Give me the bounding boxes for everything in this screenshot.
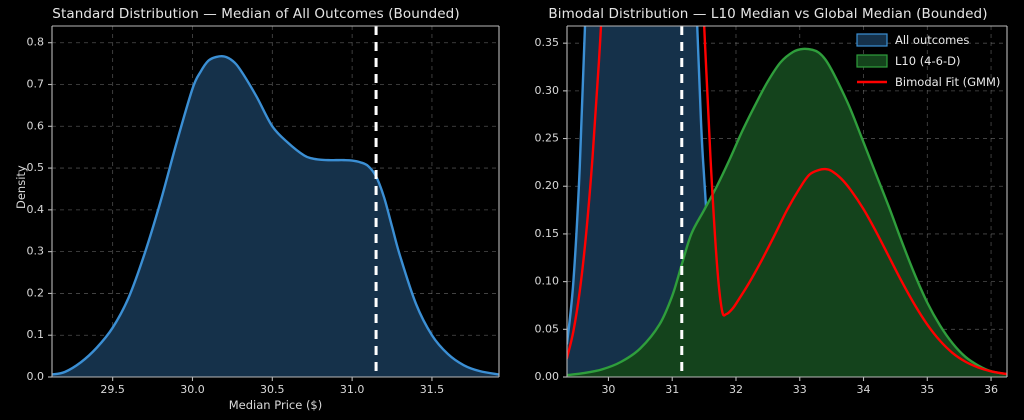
y-tick-label: 0.25 bbox=[535, 132, 560, 145]
legend-swatch-0 bbox=[857, 34, 887, 46]
legend-swatch-1 bbox=[857, 55, 887, 67]
plot-area-left: 0.00.10.20.30.40.50.60.70.829.530.030.53… bbox=[52, 26, 499, 377]
x-tick-label: 34 bbox=[857, 383, 871, 396]
x-tick-label: 31.5 bbox=[420, 383, 445, 396]
y-tick-label: 0.3 bbox=[27, 245, 45, 258]
y-tick-label: 0.4 bbox=[27, 203, 45, 216]
x-tick-label: 30.5 bbox=[260, 383, 285, 396]
chart-panel-left: Standard Distribution — Median of All Ou… bbox=[0, 0, 512, 420]
y-tick-label: 0.1 bbox=[27, 328, 45, 341]
plot-svg-left: 0.00.10.20.30.40.50.60.70.829.530.030.53… bbox=[52, 26, 499, 377]
x-tick-label: 33 bbox=[793, 383, 807, 396]
chart-panel-right: Bimodal Distribution — L10 Median vs Glo… bbox=[512, 0, 1024, 420]
chart-title-right: Bimodal Distribution — L10 Median vs Glo… bbox=[512, 6, 1024, 22]
y-tick-label: 0.10 bbox=[535, 275, 560, 288]
y-tick-label: 0.05 bbox=[535, 322, 560, 335]
y-tick-label: 0.35 bbox=[535, 36, 560, 49]
y-tick-label: 0.30 bbox=[535, 84, 560, 97]
legend-label-0: All outcomes bbox=[895, 33, 969, 47]
x-tick-label: 29.5 bbox=[100, 383, 125, 396]
x-tick-label: 31.0 bbox=[340, 383, 365, 396]
legend-label-2: Bimodal Fit (GMM) bbox=[895, 75, 1000, 89]
plot-svg-right: 0.000.050.100.150.200.250.300.3530313233… bbox=[567, 26, 1007, 377]
y-tick-label: 0.0 bbox=[27, 370, 45, 383]
y-tick-label: 0.00 bbox=[535, 370, 560, 383]
legend-label-1: L10 (4-6-D) bbox=[895, 54, 960, 68]
x-tick-label: 30.0 bbox=[180, 383, 205, 396]
x-tick-label: 36 bbox=[984, 383, 998, 396]
figure-canvas: Standard Distribution — Median of All Ou… bbox=[0, 0, 1024, 420]
y-tick-label: 0.5 bbox=[27, 161, 45, 174]
x-axis-label-left: Median Price ($) bbox=[52, 398, 499, 412]
y-tick-label: 0.7 bbox=[27, 78, 45, 91]
plot-area-right: 0.000.050.100.150.200.250.300.3530313233… bbox=[567, 26, 1007, 377]
x-tick-label: 31 bbox=[665, 383, 679, 396]
x-tick-label: 30 bbox=[601, 383, 615, 396]
y-tick-label: 0.15 bbox=[535, 227, 560, 240]
x-tick-label: 35 bbox=[920, 383, 934, 396]
y-tick-label: 0.20 bbox=[535, 179, 560, 192]
chart-title-left: Standard Distribution — Median of All Ou… bbox=[0, 6, 512, 22]
x-tick-label: 32 bbox=[729, 383, 743, 396]
y-tick-label: 0.8 bbox=[27, 36, 45, 49]
y-tick-label: 0.2 bbox=[27, 286, 45, 299]
y-tick-label: 0.6 bbox=[27, 119, 45, 132]
